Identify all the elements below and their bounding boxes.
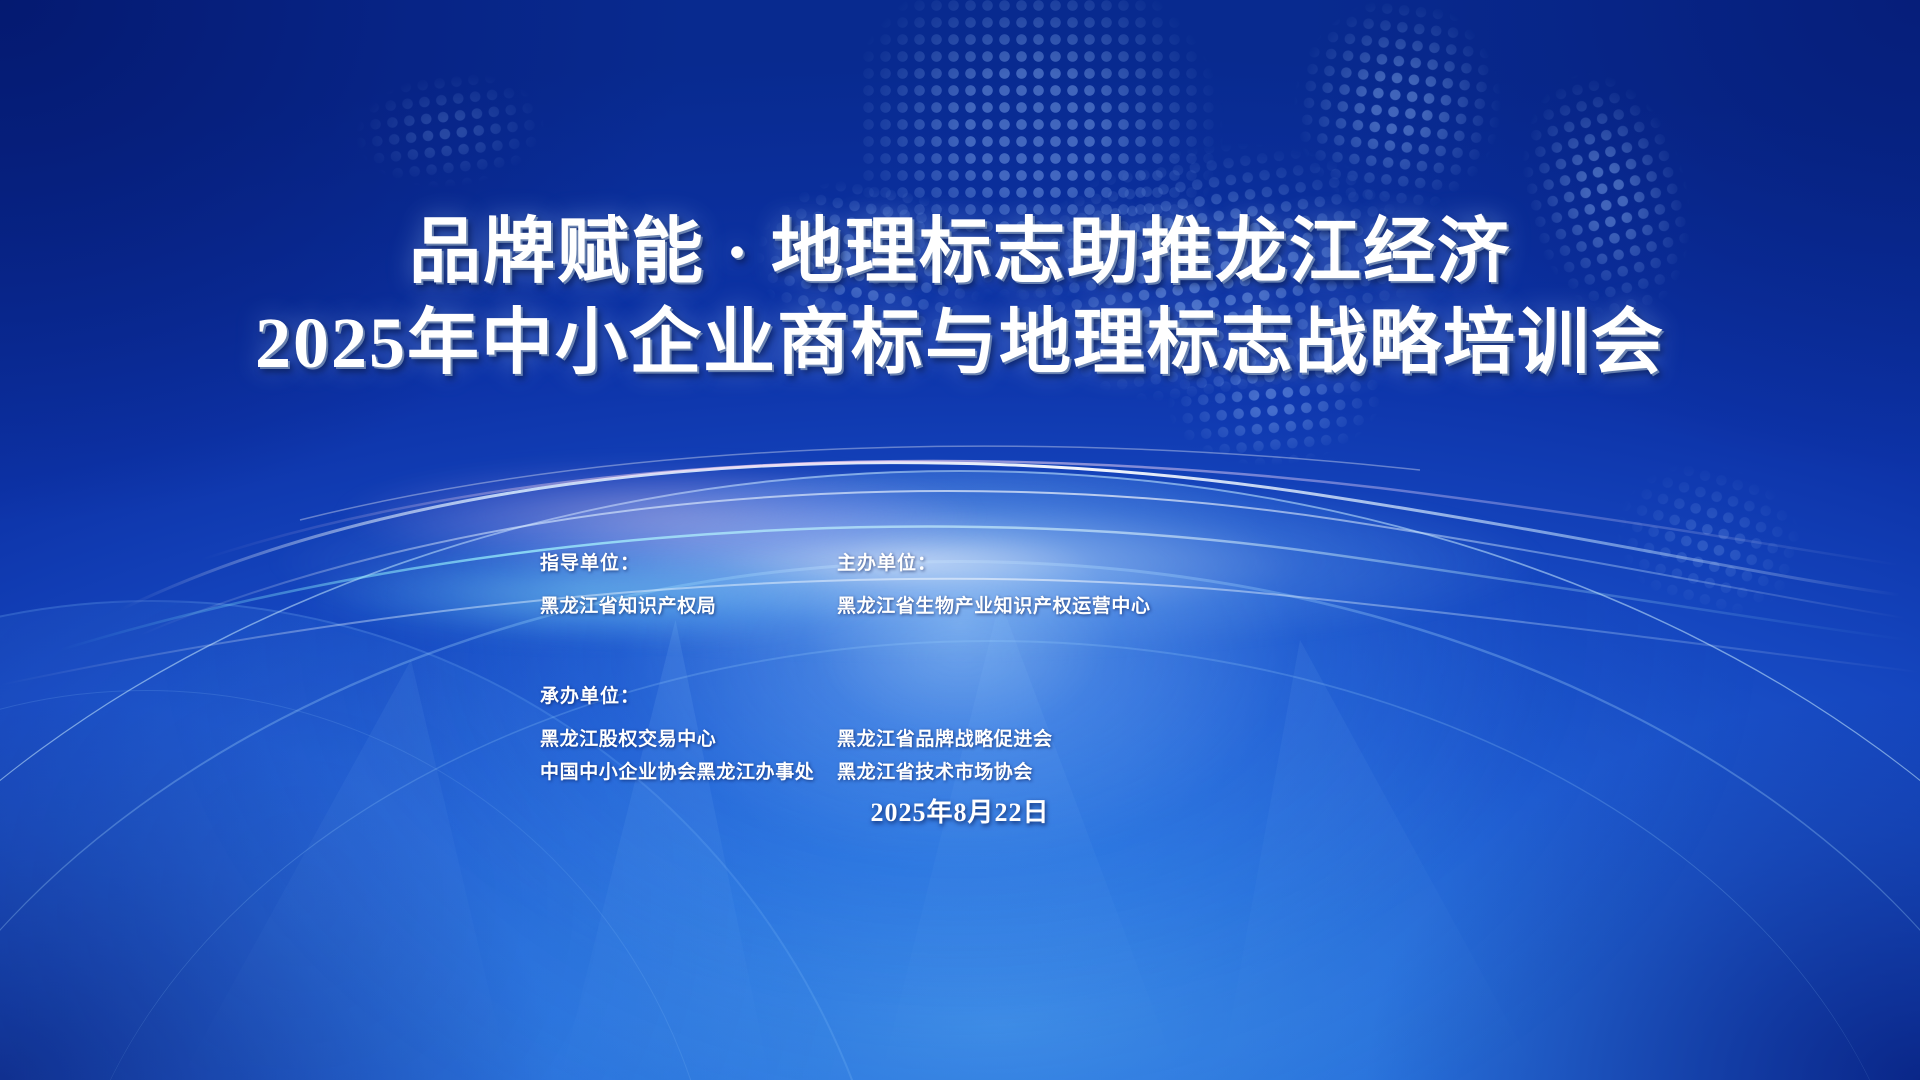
poster-canvas: 品牌赋能 · 地理标志助推龙江经济 2025年中小企业商标与地理标志战略培训会 … — [0, 0, 1920, 1080]
halftone-dots-icon — [291, 25, 608, 235]
organizations-block: 指导单位： 黑龙江省知识产权局 主办单位： 黑龙江省生物产业知识产权运营中心 承… — [540, 548, 1300, 789]
organizer-label: 承办单位： — [540, 681, 1300, 708]
organizer-row-2: 中国中小企业协会黑龙江办事处 黑龙江省技术市场协会 — [540, 757, 1300, 789]
guidance-label: 指导单位： — [540, 548, 837, 575]
guidance-org-name: 黑龙江省知识产权局 — [540, 591, 837, 623]
event-date: 2025年8月22日 — [0, 792, 1920, 829]
organizer-right-2: 黑龙江省技术市场协会 — [837, 757, 1297, 789]
organizer-left-2: 中国中小企业协会黑龙江办事处 — [540, 757, 837, 789]
guidance-host-row: 指导单位： 黑龙江省知识产权局 主办单位： 黑龙江省生物产业知识产权运营中心 — [540, 548, 1300, 623]
event-date-text: 2025年8月22日 — [870, 798, 1049, 827]
organizer-org-name: 中国中小企业协会黑龙江办事处 — [540, 757, 837, 789]
title-line-2: 2025年中小企业商标与地理标志战略培训会 — [0, 301, 1920, 386]
organizations-spacer — [540, 623, 1300, 681]
organizer-right-1: 黑龙江省品牌战略促进会 — [837, 724, 1297, 756]
organizer-left-1: 黑龙江股权交易中心 — [540, 724, 837, 756]
background-vignette-bottom-right — [1267, 626, 1920, 1080]
host-org-name: 黑龙江省生物产业知识产权运营中心 — [837, 591, 1297, 623]
host-label: 主办单位： — [837, 548, 1297, 575]
organizer-label-row: 承办单位： — [540, 681, 1300, 708]
host-column: 主办单位： 黑龙江省生物产业知识产权运营中心 — [837, 548, 1297, 623]
guidance-column: 指导单位： 黑龙江省知识产权局 — [540, 548, 837, 623]
poster-title: 品牌赋能 · 地理标志助推龙江经济 2025年中小企业商标与地理标志战略培训会 — [0, 210, 1920, 386]
organizer-org-name: 黑龙江省品牌战略促进会 — [837, 724, 1297, 756]
organizer-org-name: 黑龙江省技术市场协会 — [837, 757, 1297, 789]
title-line-1: 品牌赋能 · 地理标志助推龙江经济 — [0, 210, 1920, 295]
organizer-row-1: 黑龙江股权交易中心 黑龙江省品牌战略促进会 — [540, 724, 1300, 756]
organizer-org-name: 黑龙江股权交易中心 — [540, 724, 837, 756]
